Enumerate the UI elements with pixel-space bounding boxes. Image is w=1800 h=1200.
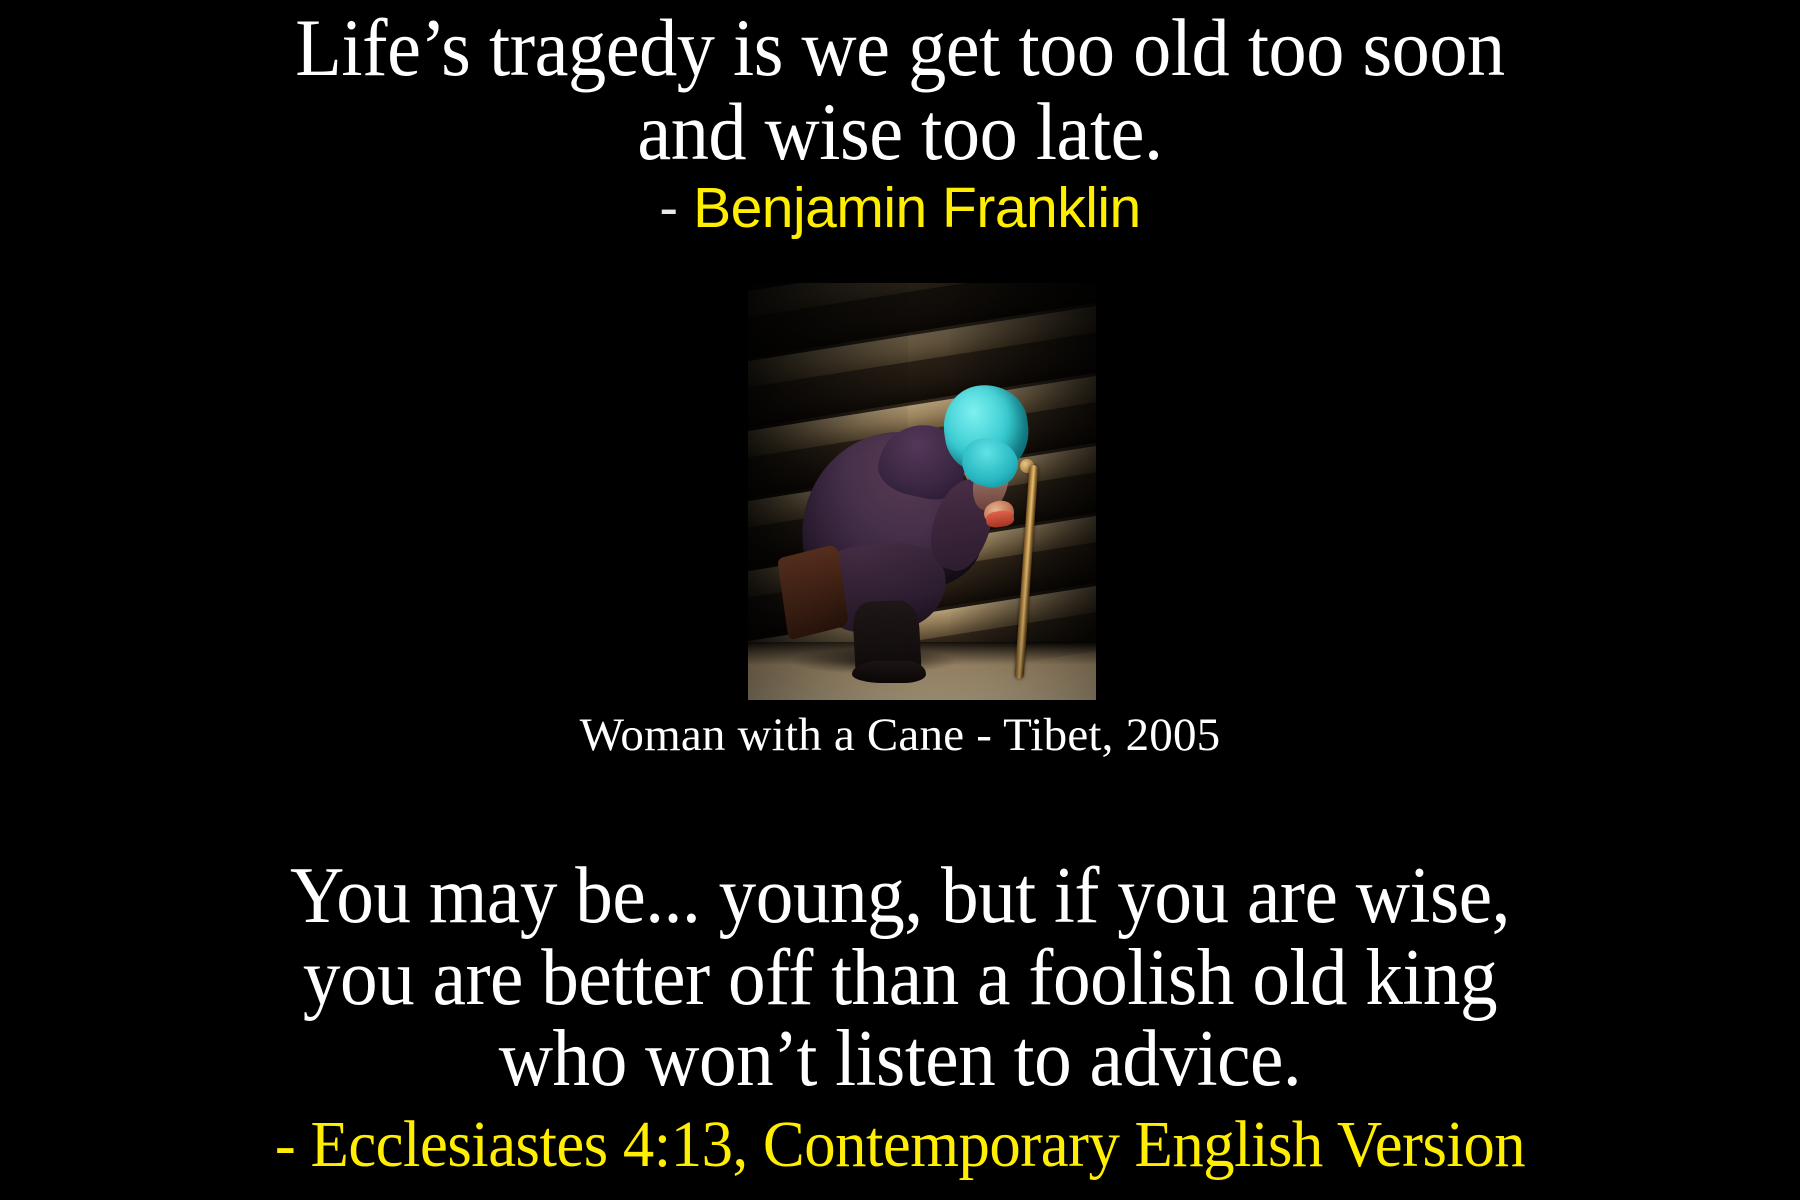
quote-slide: Life’s tragedy is we get too old too soo… [0,0,1800,1200]
bottom-quote-text: You may be... young, but if you are wise… [54,856,1746,1101]
walking-cane [1015,465,1039,679]
woman-apron [777,544,849,641]
top-attribution-name: Benjamin Franklin [693,176,1141,240]
photo-frame [748,283,1096,700]
photo-caption: Woman with a Cane - Tibet, 2005 [0,712,1800,759]
bottom-quote-attribution: - Ecclesiastes 4:13, Contemporary Englis… [45,1112,1755,1178]
woman-shoe [852,661,926,683]
photo-woman-with-cane [748,283,1096,700]
elderly-woman-figure [748,283,1096,700]
top-quote-attribution: - Benjamin Franklin [0,180,1800,237]
top-quote-text: Life’s tragedy is we get too old too soo… [63,6,1737,173]
top-attribution-dash: - [659,176,693,240]
